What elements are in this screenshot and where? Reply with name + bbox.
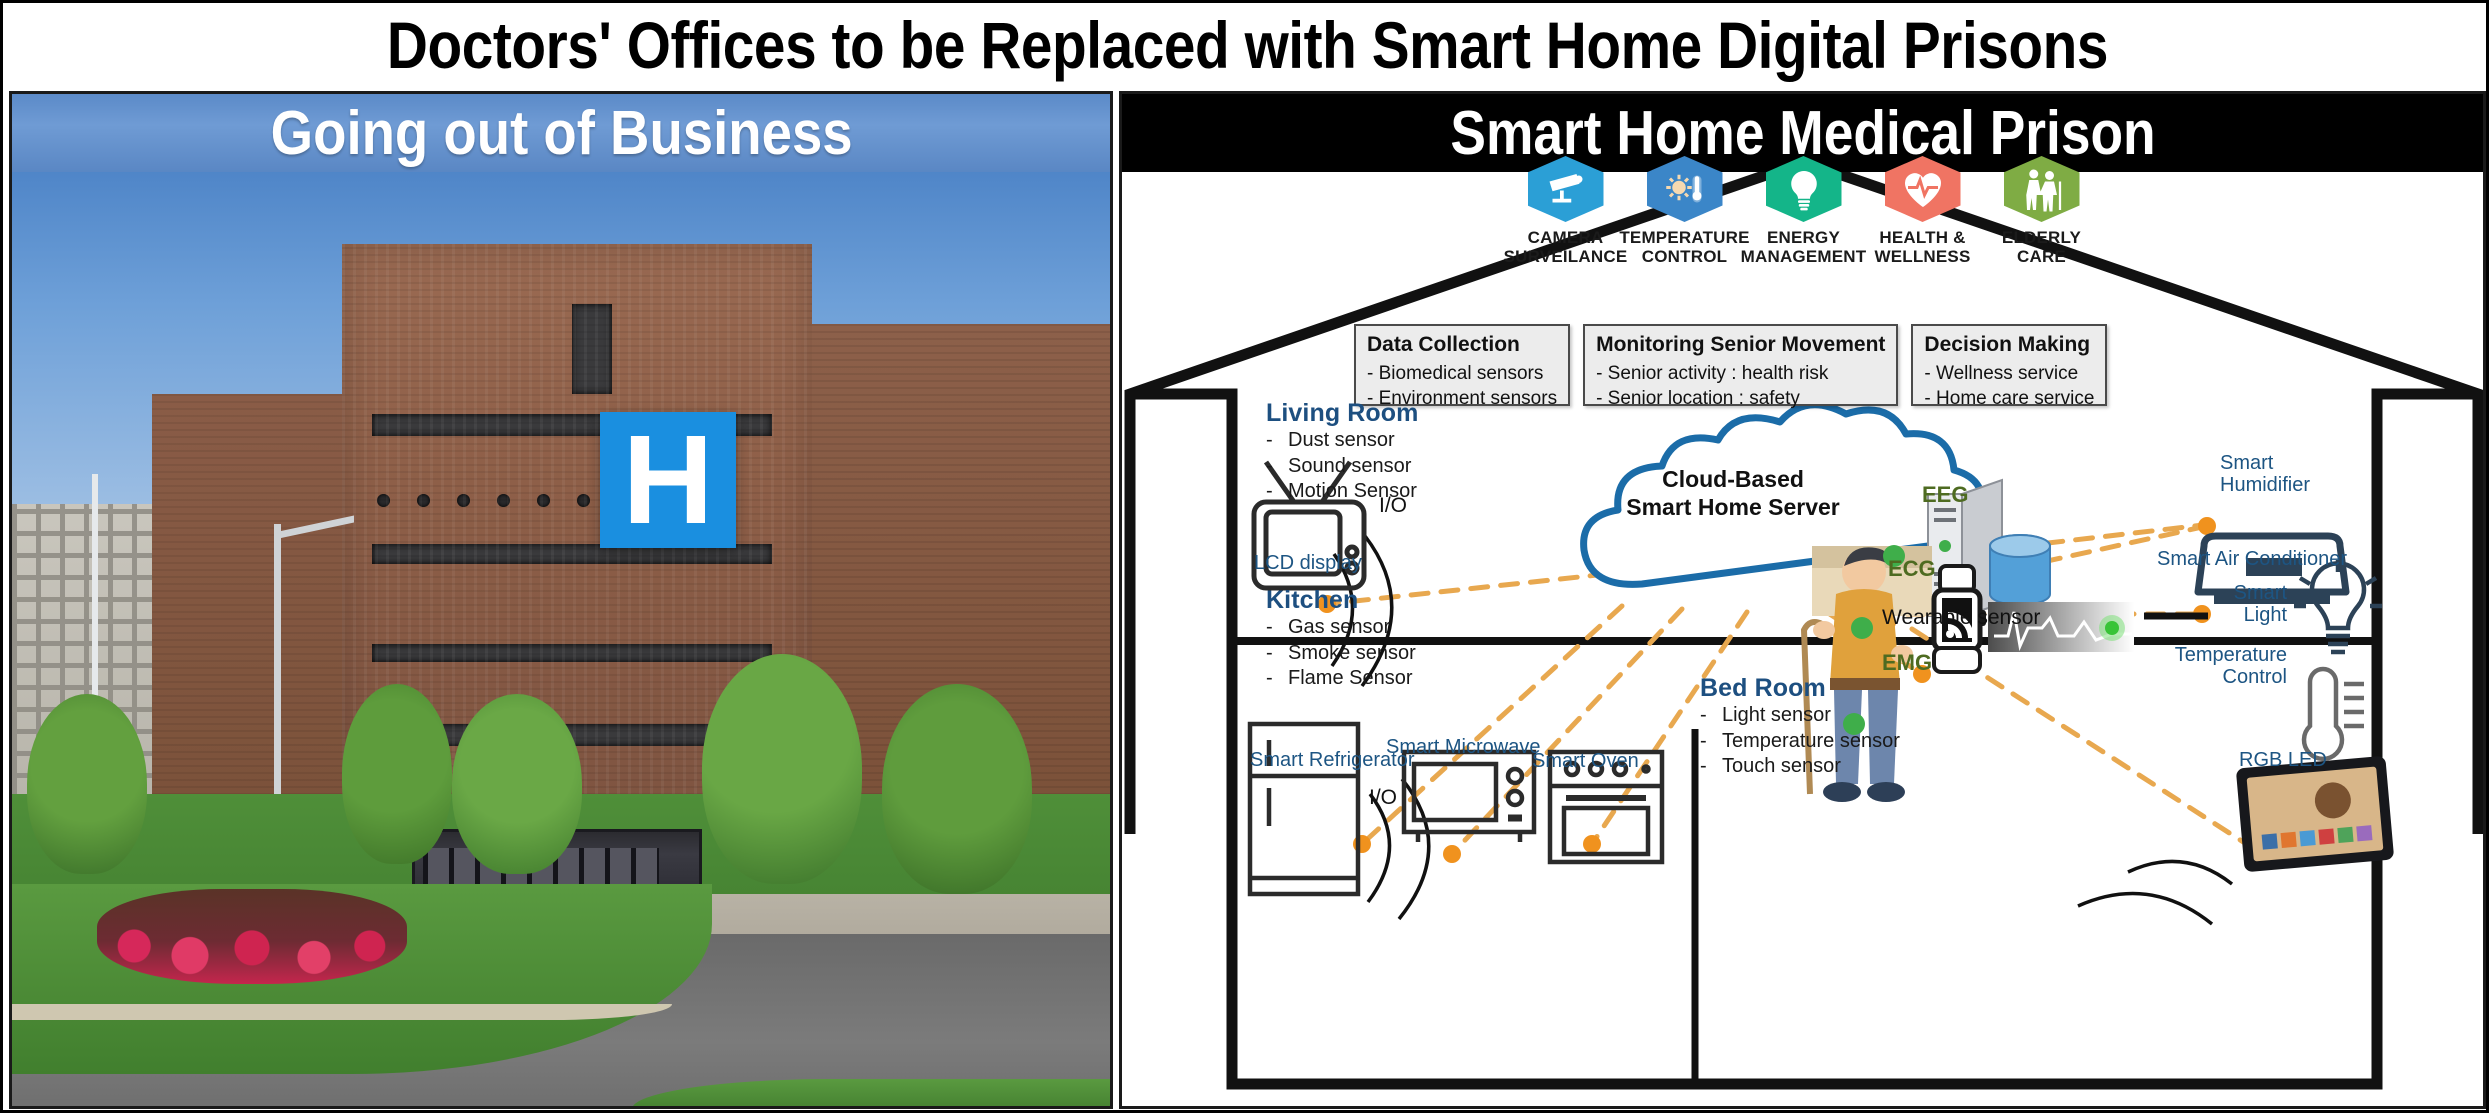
info-box-title: Data Collection [1367, 333, 1557, 357]
hospital-h-sign: H [600, 412, 736, 548]
cloud-label-line1: Cloud-Based [1662, 466, 1804, 492]
tree [342, 684, 452, 864]
hex-label-line1: CAMERA [1528, 228, 1604, 247]
tree [702, 654, 862, 884]
info-box-title: Monitoring Senior Movement [1596, 333, 1885, 357]
device-label-smart-air-conditioner: Smart Air Conditioner [2157, 548, 2347, 570]
hex-label-line2: SURVEILANCE [1504, 247, 1628, 266]
hex-label-line1: HEALTH & [1879, 228, 1965, 247]
thermometer-icon [2304, 669, 2364, 759]
elderly-couple-icon [2004, 156, 2080, 222]
hex-label-line2: MANAGEMENT [1741, 247, 1867, 266]
device-label-rgb-led: RGB LED [2239, 749, 2327, 771]
room-sensor: Sound sensor [1288, 455, 1411, 477]
io-label-fridge: I/O [1369, 786, 1397, 810]
info-box-title: Decision Making [1924, 333, 2094, 357]
room-title: Living Room [1266, 399, 1418, 428]
room-title: Kitchen [1266, 586, 1416, 615]
page-title: Doctors' Offices to be Replaced with Sma… [177, 9, 2318, 81]
biosignal-label-eeg: EEG [1922, 482, 1968, 508]
device-label-smart-light: Smart Light [2197, 582, 2287, 627]
room-kitchen: Kitchen -Gas sensor -Smoke sensor -Flame… [1266, 586, 1416, 692]
humidifier-label-line1: Smart [2220, 452, 2273, 474]
process-info-boxes: Data Collection - Biomedical sensors - E… [1354, 324, 2354, 406]
info-box-line: - Biomedical sensors [1367, 361, 1557, 386]
temp-control-line1: Temperature [2175, 644, 2287, 666]
room-title: Bed Room [1700, 674, 1900, 703]
hex-item-camera-surveillance[interactable]: CAMERA SURVEILANCE [1508, 156, 1623, 266]
humidifier-label-line2: Humidifier [2220, 474, 2310, 496]
info-box-line: - Senior activity : health risk [1596, 361, 1885, 386]
window-strip [372, 644, 772, 662]
feature-hex-row: CAMERA SURVEILANCE TEMPERATURE CONTROL [1122, 156, 2485, 266]
rgb-led-tablet-icon [2236, 756, 2394, 873]
info-box-decision-making: Decision Making - Wellness service - Hom… [1911, 324, 2107, 406]
left-banner-text: Going out of Business [271, 98, 853, 169]
window-strip [572, 304, 612, 394]
room-sensor: Smoke sensor [1288, 642, 1416, 664]
hex-label-line1: ENERGY [1767, 228, 1840, 247]
info-box-data-collection: Data Collection - Biomedical sensors - E… [1354, 324, 1570, 406]
temp-control-line2: Control [2223, 666, 2287, 688]
info-box-monitoring-senior-movement: Monitoring Senior Movement - Senior acti… [1583, 324, 1898, 406]
room-bed-room: Bed Room -Light sensor -Temperature sens… [1700, 674, 1900, 780]
hex-item-temperature-control[interactable]: TEMPERATURE CONTROL [1627, 156, 1742, 266]
database-icon [1990, 535, 2050, 605]
device-label-wearable-sensor: Wearable sensor [1882, 606, 2040, 630]
room-sensor: Touch sensor [1722, 755, 1841, 777]
smart-home-diagram-panel: Smart Home Medical Prison CAMERA SURVEIL… [1119, 91, 2486, 1109]
biosignal-label-emg: EMG [1882, 650, 1932, 676]
microwave-icon [1404, 752, 1534, 842]
light-label-line1: Smart [2234, 582, 2287, 604]
device-label-temperature-control: Temperature Control [2167, 644, 2287, 689]
hex-label-line2: CONTROL [1642, 247, 1727, 266]
hex-label-line1: ELDERLY [2002, 228, 2081, 247]
lightbulb-icon [1766, 156, 1842, 222]
io-label-tv: I/O [1379, 494, 1407, 518]
cloud-label-line2: Smart Home Server [1626, 494, 1840, 520]
flower-bed [97, 889, 407, 984]
room-sensor: Gas sensor [1288, 616, 1390, 638]
hex-label-line1: TEMPERATURE [1619, 228, 1749, 247]
hex-item-health-wellness[interactable]: HEALTH & WELLNESS [1865, 156, 1980, 266]
device-label-smart-microwave: Smart Microwave [1386, 736, 1540, 758]
left-banner: Going out of Business [12, 94, 1112, 172]
poster-frame: Doctors' Offices to be Replaced with Sma… [0, 0, 2489, 1113]
hospital-photo-panel: H Going out of Business [9, 91, 1113, 1109]
info-box-line: - Senior location : safety [1596, 386, 1885, 411]
device-label-smart-oven: Smart Oven [1532, 750, 1639, 772]
tree [882, 684, 1032, 894]
cctv-camera-icon [1528, 156, 1604, 222]
light-label-line2: Light [2244, 604, 2287, 626]
room-living-room: Living Room -Dust sensor -Sound sensor -… [1266, 399, 1418, 505]
room-sensor: Dust sensor [1288, 429, 1395, 451]
tree [452, 694, 582, 874]
room-sensor: Flame Sensor [1288, 667, 1413, 689]
tree [27, 694, 147, 874]
heart-pulse-icon [1885, 156, 1961, 222]
sun-thermometer-icon [1647, 156, 1723, 222]
info-box-line: - Wellness service [1924, 361, 2094, 386]
cloud-server-label: Cloud-Based Smart Home Server [1618, 466, 1848, 521]
device-label-smart-humidifier: Smart Humidifier [2220, 452, 2310, 497]
hex-label-line2: CARE [2017, 247, 2066, 266]
biosignal-label-ecg: ECG [1888, 556, 1936, 582]
hex-label-line2: WELLNESS [1874, 247, 1970, 266]
hex-item-elderly-care[interactable]: ELDERLY CARE [1984, 156, 2099, 266]
brick-wing-left [152, 394, 352, 844]
room-sensor: Light sensor [1722, 704, 1831, 726]
device-label-lcd-display: LCD display [1254, 552, 1362, 574]
room-sensor: Temperature sensor [1722, 730, 1900, 752]
hex-item-energy-management[interactable]: ENERGY MANAGEMENT [1746, 156, 1861, 266]
curb [12, 1004, 672, 1020]
hospital-h-letter: H [623, 428, 714, 531]
info-box-line: - Home care service [1924, 386, 2094, 411]
